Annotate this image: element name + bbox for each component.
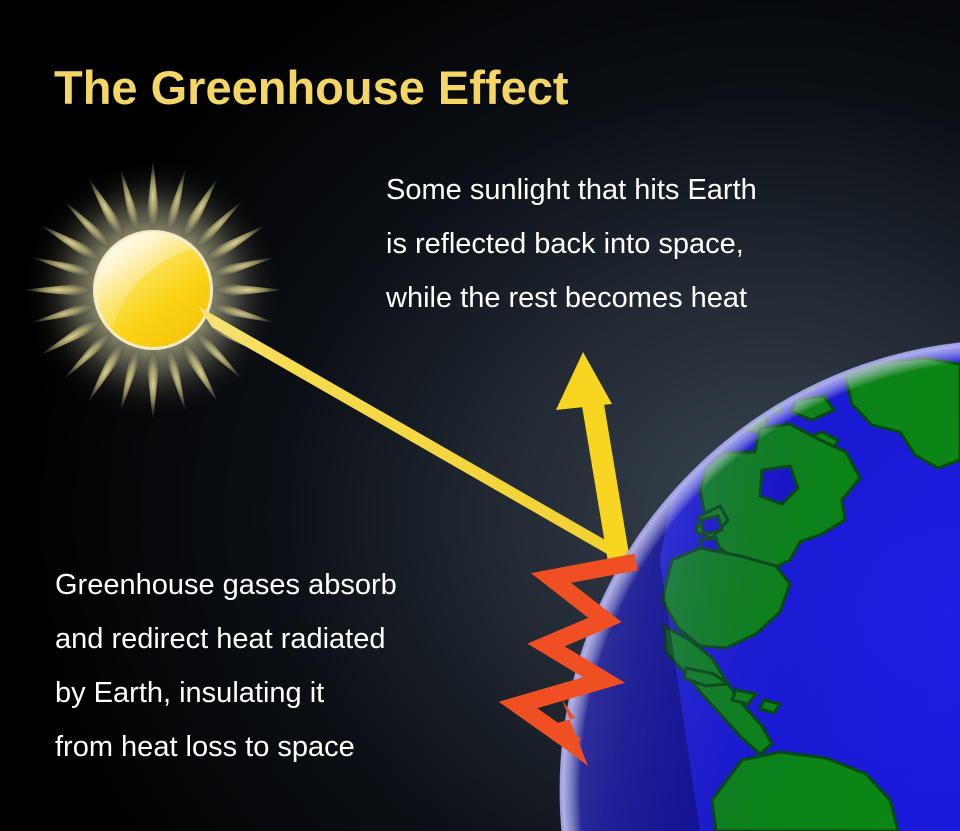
earth-globe: [560, 340, 960, 831]
caption-line: is reflected back into space,: [386, 217, 757, 271]
caption-line: while the rest becomes heat: [386, 271, 757, 325]
caption-line: by Earth, insulating it: [55, 666, 397, 720]
caption-line: Greenhouse gases absorb: [55, 558, 397, 612]
greenhouse-effect-slide: The Greenhouse Effect Some sunlight that…: [0, 0, 960, 831]
incoming-sunlight-beam: [198, 306, 628, 566]
greenhouse-gases-caption: Greenhouse gases absorb and redirect hea…: [55, 558, 397, 774]
caption-line: from heat loss to space: [55, 720, 397, 774]
sunlight-reflection-caption: Some sunlight that hits Earth is reflect…: [386, 163, 757, 325]
caption-line: and redirect heat radiated: [55, 612, 397, 666]
sun-graphic: [21, 158, 285, 422]
page-title: The Greenhouse Effect: [54, 62, 569, 114]
caption-line: Some sunlight that hits Earth: [386, 163, 757, 217]
